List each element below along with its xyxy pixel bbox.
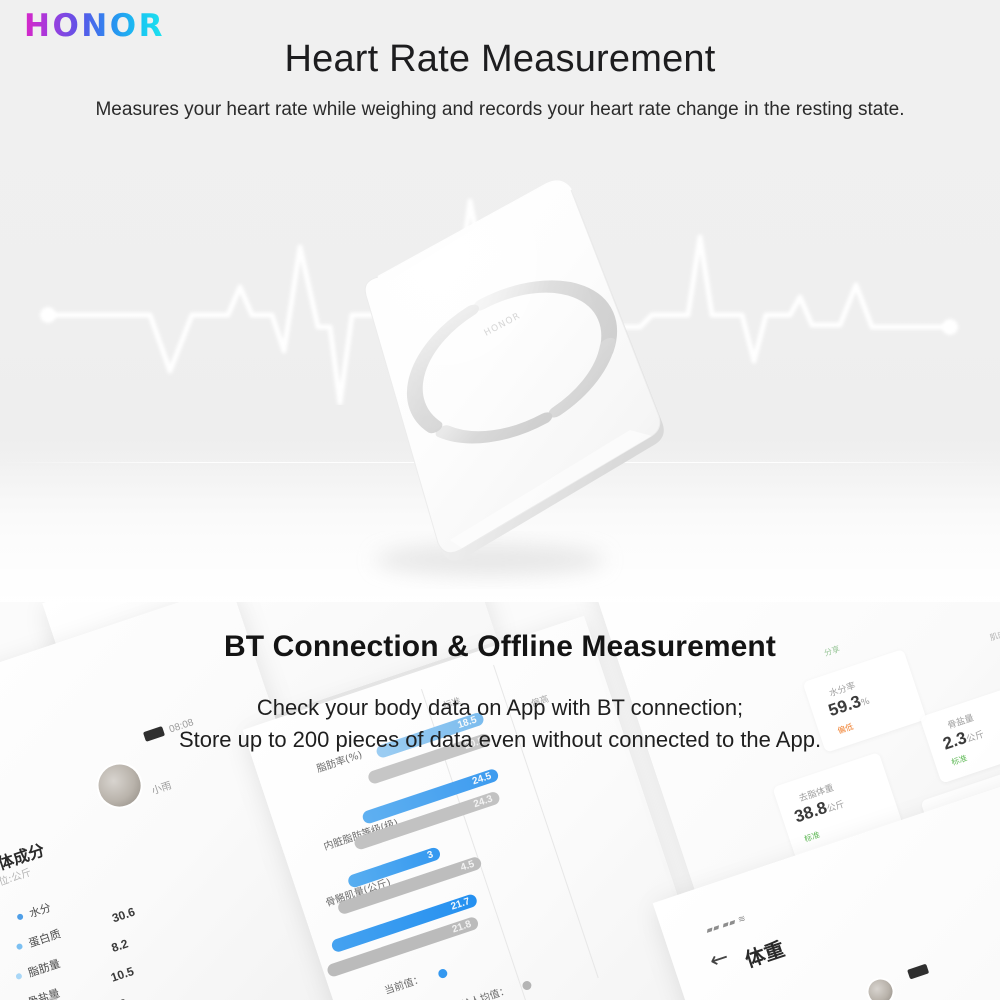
legend-dot-icon-1 bbox=[16, 943, 24, 951]
panel-title-weight-2: 体重 bbox=[741, 933, 788, 973]
avatar-2[interactable] bbox=[863, 974, 898, 1000]
bar-value-1-avg: 24.3 bbox=[472, 794, 494, 811]
legend-dot-icon-2 bbox=[15, 973, 23, 981]
user-name[interactable]: 小雨 bbox=[149, 777, 173, 798]
body-fat-scale-product: HONOR bbox=[300, 140, 700, 600]
legend-value-1: 8.2 bbox=[110, 936, 130, 955]
section2-title: BT Connection & Offline Measurement bbox=[0, 630, 1000, 664]
legend-value-3: 2.3 bbox=[108, 996, 128, 1000]
signal-icon-3: ▰▰ bbox=[705, 922, 722, 937]
legend-value-2: 10.5 bbox=[109, 964, 136, 985]
legend-average-dot-icon bbox=[521, 980, 532, 991]
legend-value-0: 30.6 bbox=[110, 905, 137, 926]
signal-icon-4: ▰▰ bbox=[721, 916, 738, 931]
back-arrow-icon-2[interactable]: ← bbox=[707, 947, 731, 974]
page-root: HONOR HONOR Heart Rate Measurement Measu… bbox=[0, 0, 1000, 1000]
section2-line1: Check your body data on App with BT conn… bbox=[0, 695, 1000, 721]
section2-line2: Store up to 200 pieces of data even with… bbox=[0, 727, 1000, 753]
status-bar-icons-2: ▰▰ ▰▰ ≋ bbox=[705, 913, 748, 937]
bar-extra-value-avg: 4.5 bbox=[459, 859, 476, 874]
avatar[interactable] bbox=[90, 756, 148, 814]
legend-dot-icon-0 bbox=[16, 913, 24, 921]
legend-item-1: 蛋白质 bbox=[14, 925, 63, 955]
legend-label-0: 水分 bbox=[27, 899, 53, 921]
legend-item-0: 水分 bbox=[15, 899, 53, 925]
heart-rate-section: HONOR HONOR Heart Rate Measurement Measu… bbox=[0, 0, 1000, 602]
legend-item-2: 脂肪量 bbox=[14, 955, 63, 985]
bt-connection-section: ▰▰ ▰▰ ≋ ← 体重 08:08 小雨 人体成分 单位:公斤 水分 bbox=[0, 602, 1000, 1000]
bar-value-1-current: 24.5 bbox=[471, 771, 493, 788]
legend-label-1: 蛋白质 bbox=[26, 925, 62, 951]
legend-average-label: 同龄人均值： bbox=[449, 981, 511, 1000]
legend-label-2: 脂肪量 bbox=[26, 955, 62, 981]
legend-current-label: 当前值： bbox=[382, 970, 425, 997]
bar-value-2-current: 21.7 bbox=[450, 896, 472, 913]
page-subtitle: Measures your heart rate while weighing … bbox=[0, 99, 1000, 121]
bar-extra-value-current: 3 bbox=[426, 849, 435, 861]
bar-value-2-avg: 21.8 bbox=[451, 919, 473, 936]
legend-current-dot-icon bbox=[437, 968, 448, 979]
wifi-icon-2: ≋ bbox=[737, 913, 748, 926]
battery-icon-2 bbox=[907, 964, 929, 980]
page-title: Heart Rate Measurement bbox=[0, 38, 1000, 81]
